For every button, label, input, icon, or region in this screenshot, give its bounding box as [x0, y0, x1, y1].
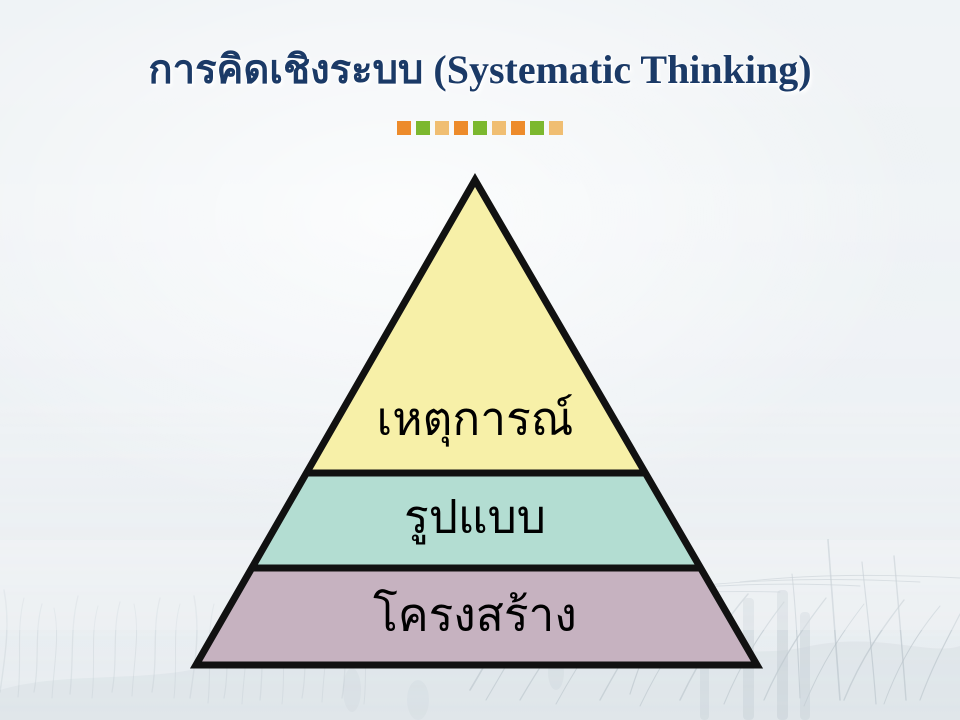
pyramid-level-bottom-label: โครงสร้าง — [373, 589, 577, 641]
pyramid-diagram: เหตุการณ์ รูปแบบ โครงสร้าง — [0, 0, 960, 720]
pyramid-level-top-label: เหตุการณ์ — [377, 394, 574, 448]
pyramid-level-middle-label: รูปแบบ — [404, 492, 546, 545]
slide-canvas: การคิดเชิงระบบ (Systematic Thinking) เหต… — [0, 0, 960, 720]
